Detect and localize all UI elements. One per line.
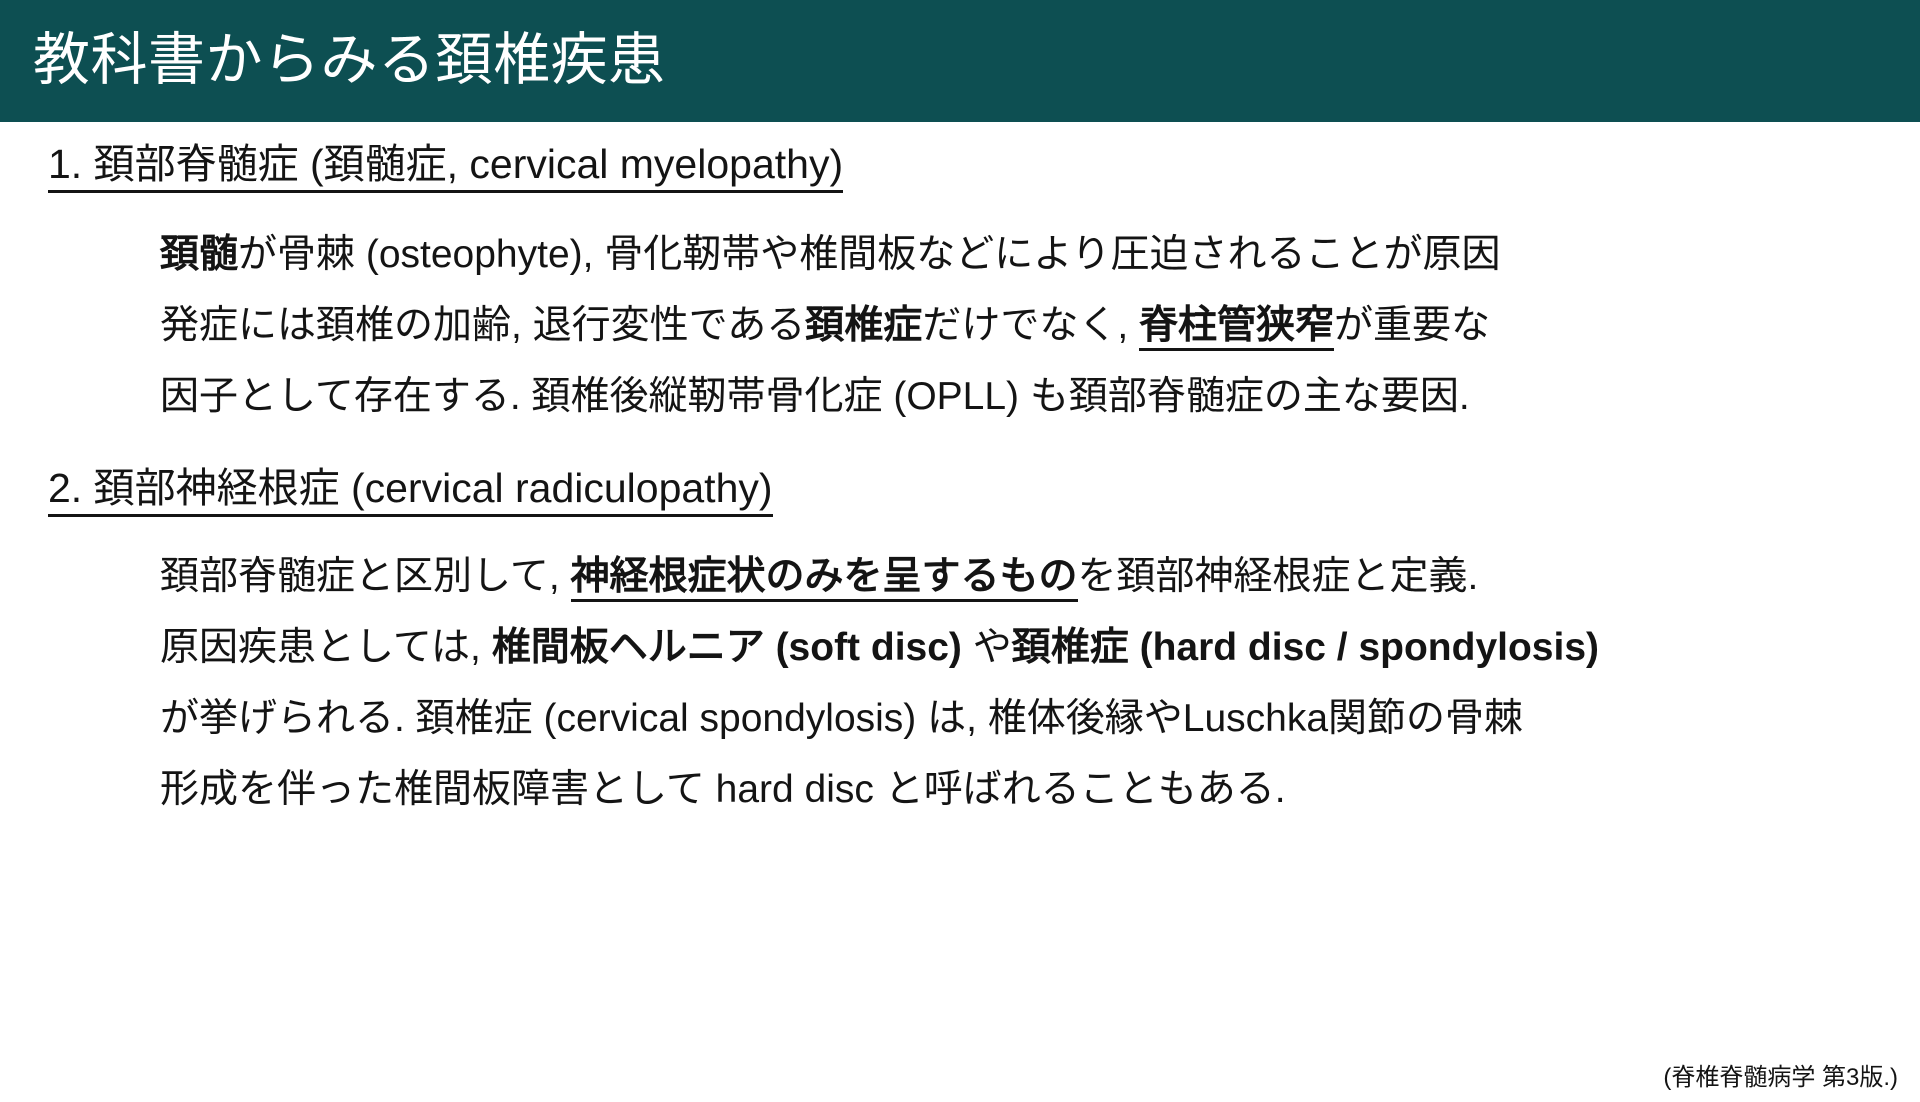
- section-1-line-3: 因子として存在する. 頚椎後縦靭帯骨化症 (OPLL) も頚部脊髄症の主な要因.: [160, 377, 1890, 416]
- section-cervical-radiculopathy: 2. 頚部神経根症 (cervical radiculopathy) 頚部脊髄症…: [0, 468, 1920, 809]
- section-2-line-3: が挙げられる. 頚椎症 (cervical spondylosis) は, 椎体…: [160, 699, 1890, 738]
- section-1-line-2-part-3: だけでなく,: [922, 304, 1139, 347]
- slide-title: 教科書からみる頚椎疾患: [33, 31, 666, 91]
- term-keizui: 頚髄: [160, 233, 238, 276]
- section-2-line-2: 原因疾患としては, 椎間板ヘルニア (soft disc) や頚椎症 (hard…: [160, 628, 1890, 667]
- term-shinkeikon-shojo: 神経根症状のみを呈するもの: [571, 555, 1078, 602]
- slide-title-bar: 教科書からみる頚椎疾患: [0, 0, 1920, 122]
- section-2-heading-row: 2. 頚部神経根症 (cervical radiculopathy): [0, 468, 1920, 517]
- section-2-line-1-part-1: 頚部脊髄症と区別して,: [160, 555, 571, 598]
- section-1-line-1: 頚髄が骨棘 (osteophyte), 骨化靭帯や椎間板などにより圧迫されること…: [160, 235, 1890, 274]
- section-2-line-1-part-3: を頚部神経根症と定義.: [1078, 555, 1479, 598]
- section-2-line-4: 形成を伴った椎間板障害として hard disc と呼ばれることもある.: [160, 770, 1890, 809]
- section-2-paragraph: 頚部脊髄症と区別して, 神経根症状のみを呈するものを頚部神経根症と定義. 原因疾…: [0, 557, 1920, 809]
- section-1-line-2-part-5: が重要な: [1334, 304, 1490, 347]
- term-hard-disc: 頚椎症 (hard disc / spondylosis): [1012, 626, 1599, 669]
- term-sekichukan-kyosaku: 脊柱管狭窄: [1139, 304, 1334, 351]
- section-1-line-2-part-1: 発症には頚椎の加齢, 退行変性である: [160, 304, 805, 347]
- term-keitsuisho: 頚椎症: [805, 304, 922, 347]
- section-1-paragraph: 頚髄が骨棘 (osteophyte), 骨化靭帯や椎間板などにより圧迫されること…: [0, 235, 1920, 416]
- section-2-heading: 2. 頚部神経根症 (cervical radiculopathy): [48, 468, 773, 517]
- source-citation: (脊椎脊髄病学 第3版.): [1663, 1057, 1898, 1092]
- section-cervical-myelopathy: 1. 頚部脊髄症 (頚髄症, cervical myelopathy) 頚髄が骨…: [0, 144, 1920, 416]
- section-1-heading-row: 1. 頚部脊髄症 (頚髄症, cervical myelopathy): [0, 144, 1920, 193]
- section-2-line-3-text: が挙げられる. 頚椎症 (cervical spondylosis) は, 椎体…: [160, 697, 1523, 740]
- term-soft-disc: 椎間板ヘルニア (soft disc): [492, 626, 962, 669]
- section-1-heading: 1. 頚部脊髄症 (頚髄症, cervical myelopathy): [48, 144, 843, 193]
- section-2-line-2-part-3: や: [962, 626, 1012, 669]
- section-2-line-1: 頚部脊髄症と区別して, 神経根症状のみを呈するものを頚部神経根症と定義.: [160, 557, 1890, 596]
- section-1-line-2: 発症には頚椎の加齢, 退行変性である頚椎症だけでなく, 脊柱管狭窄が重要な: [160, 306, 1890, 345]
- section-1-line-1-rest: が骨棘 (osteophyte), 骨化靭帯や椎間板などにより圧迫されることが原…: [238, 233, 1501, 276]
- section-2-line-4-text: 形成を伴った椎間板障害として hard disc と呼ばれることもある.: [160, 768, 1286, 811]
- section-2-line-2-part-1: 原因疾患としては,: [160, 626, 492, 669]
- section-1-line-3-text: 因子として存在する. 頚椎後縦靭帯骨化症 (OPLL) も頚部脊髄症の主な要因.: [160, 375, 1470, 418]
- slide-content: 1. 頚部脊髄症 (頚髄症, cervical myelopathy) 頚髄が骨…: [0, 144, 1920, 1102]
